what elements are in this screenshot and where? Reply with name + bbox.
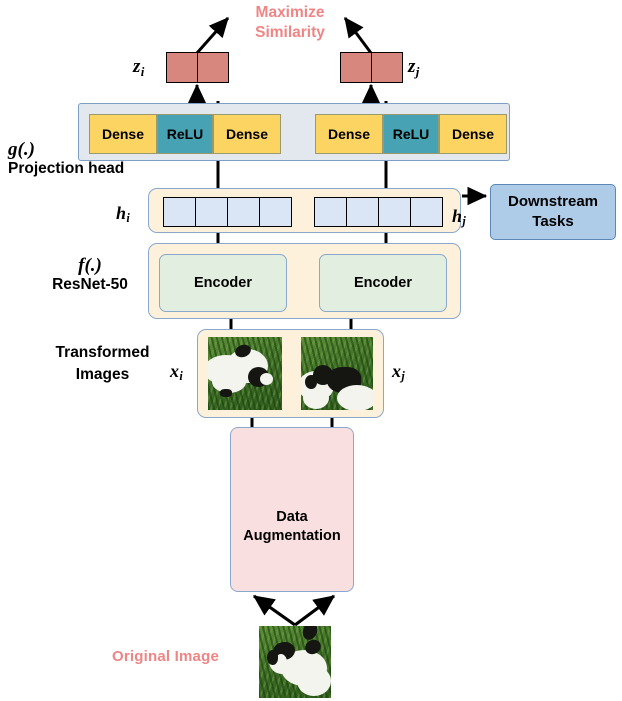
downstream-line1: Downstream <box>508 193 598 210</box>
downstream-tasks-text: Downstream Tasks <box>508 192 598 232</box>
transformed-image-xj <box>301 337 373 410</box>
z-i-label: zi <box>133 56 144 80</box>
h-j-cell <box>347 198 379 226</box>
h-j-cell <box>315 198 347 226</box>
diagram-canvas: Maximize Similarity zi zj Dense ReLU Den… <box>0 0 622 701</box>
maximize-similarity-label: Maximize Similarity <box>240 3 340 43</box>
similarity-arrow-left <box>197 18 228 53</box>
data-augmentation-box[interactable]: Data Augmentation <box>230 427 354 592</box>
projection-head-function: g(.) <box>8 140 158 159</box>
transformed-images-line2: Images <box>30 364 175 386</box>
z-j-vector <box>340 52 403 83</box>
data-augmentation-text: Data Augmentation <box>231 508 353 546</box>
maximize-similarity-line2: Similarity <box>240 23 340 43</box>
downstream-line2: Tasks <box>532 213 573 230</box>
projection-head-branch-j: Dense ReLU Dense <box>315 114 507 152</box>
original-image-label: Original Image <box>112 648 252 665</box>
arrow-orig-to-aug-right <box>295 596 334 625</box>
x-i-label: xi <box>170 361 183 384</box>
h-i-label: hi <box>116 203 130 226</box>
encoder-group-label: f(.) ResNet-50 <box>20 256 160 294</box>
h-i-vector <box>163 197 292 227</box>
dense-block: Dense <box>315 114 383 154</box>
maximize-similarity-line1: Maximize <box>240 3 340 23</box>
h-i-cell <box>260 198 291 226</box>
encoder-backbone-text: ResNet-50 <box>52 276 128 293</box>
transformed-image-xi <box>208 337 282 410</box>
data-augmentation-line1: Data <box>231 508 353 527</box>
relu-block: ReLU <box>383 114 439 154</box>
data-augmentation-line2: Augmentation <box>231 527 353 546</box>
h-i-cell <box>164 198 196 226</box>
z-j-cell <box>372 53 402 82</box>
z-i-cell <box>167 53 198 82</box>
encoder-band: Encoder Encoder <box>148 243 461 319</box>
original-image <box>259 626 331 698</box>
z-j-cell <box>341 53 372 82</box>
projection-head-text: Projection head <box>8 160 124 177</box>
h-j-cell <box>379 198 411 226</box>
h-j-vector <box>314 197 443 227</box>
encoder-left: Encoder <box>159 254 287 312</box>
h-i-cell <box>196 198 228 226</box>
z-i-cell <box>198 53 228 82</box>
h-j-label: hj <box>452 206 466 229</box>
h-j-cell <box>411 198 442 226</box>
h-i-cell <box>228 198 260 226</box>
x-j-label: xj <box>392 361 405 384</box>
encoder-right: Encoder <box>319 254 447 312</box>
downstream-tasks-box[interactable]: Downstream Tasks <box>490 184 616 240</box>
transformed-images-line1: Transformed <box>30 342 175 364</box>
relu-block: ReLU <box>157 114 213 154</box>
z-i-vector <box>166 52 229 83</box>
projection-head-group-label: g(.) Projection head <box>8 140 158 178</box>
representation-band <box>148 188 461 233</box>
similarity-arrow-right <box>345 18 371 53</box>
dense-block: Dense <box>213 114 281 154</box>
z-j-label: zj <box>408 56 419 80</box>
dense-block: Dense <box>439 114 507 154</box>
transformed-images-label: Transformed Images <box>30 342 175 386</box>
arrow-orig-to-aug-left <box>254 596 295 625</box>
encoder-function: f(.) <box>20 256 160 275</box>
